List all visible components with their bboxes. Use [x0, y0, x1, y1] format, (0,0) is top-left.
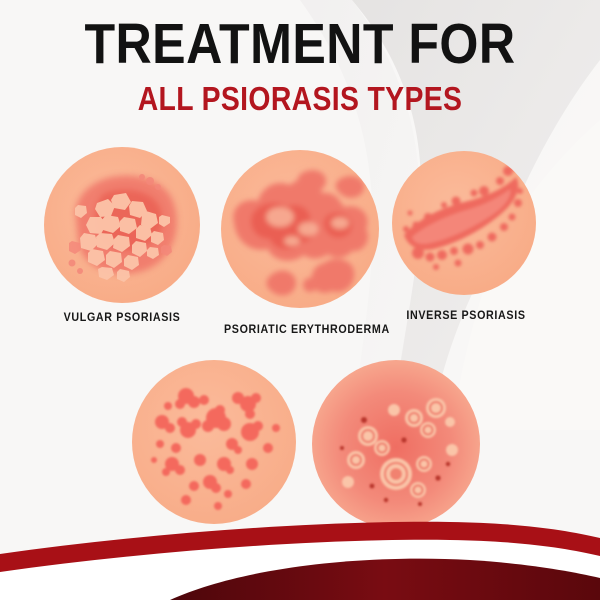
card-inverse-psoriasis[interactable]: INVERSE PSORIASIS: [388, 145, 544, 322]
card-label: VULGAR PSORIASIS: [48, 312, 197, 324]
card-psoriatic-erythroderma[interactable]: PSORIATIC ERYTHRODERMA: [218, 145, 390, 336]
pustular-psoriasis-illustration: [308, 360, 488, 532]
inverse-psoriasis-illustration: [388, 145, 544, 303]
footer-wave-decoration: [0, 510, 600, 600]
page-title: TREATMENT FOR: [36, 14, 564, 74]
infographic-canvas: TREATMENT FOR ALL PSIORASIS TYPES: [0, 0, 600, 600]
card-label: INVERSE PSORIASIS: [393, 310, 538, 322]
card-label: PSORIATIC ERYTHRODERMA: [224, 324, 384, 336]
page-subtitle: ALL PSIORASIS TYPES: [42, 80, 558, 118]
card-vulgar-psoriasis[interactable]: VULGAR PSORIASIS: [42, 145, 202, 324]
vulgar-psoriasis-illustration: [42, 145, 202, 305]
psoriatic-erythroderma-illustration: [214, 145, 386, 317]
header: TREATMENT FOR ALL PSIORASIS TYPES: [0, 14, 600, 118]
guttate-psoriasis-illustration: [128, 360, 304, 530]
